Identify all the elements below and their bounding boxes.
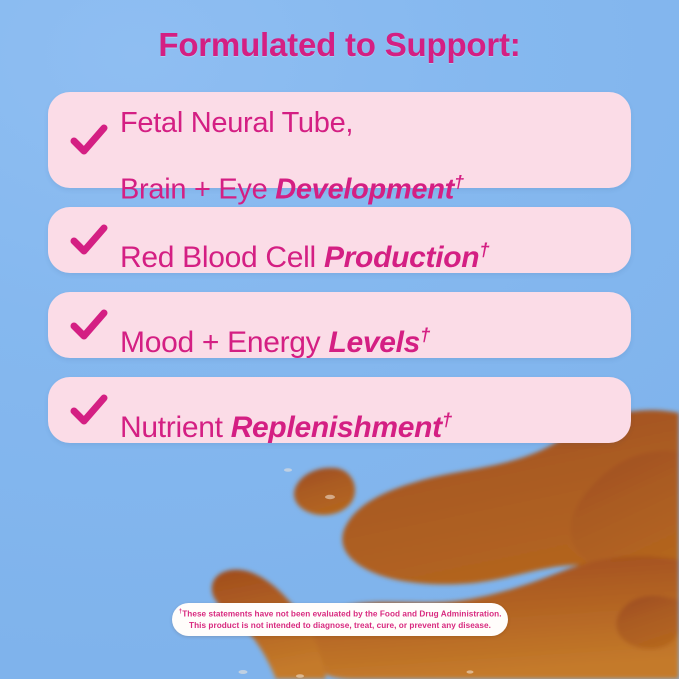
check-icon bbox=[66, 387, 112, 433]
benefit-line-plain: Mood + Energy bbox=[120, 326, 328, 359]
benefit-card-nutrient-replenishment: Nutrient Replenishment† bbox=[48, 377, 631, 443]
benefit-line-1: Fetal Neural Tube, bbox=[120, 107, 353, 139]
page-title: Formulated to Support: bbox=[0, 26, 679, 64]
disclaimer-text-1: These statements have not been evaluated… bbox=[182, 610, 501, 619]
benefit-line-plain: Red Blood Cell bbox=[120, 241, 324, 274]
disclaimer-line-1: †These statements have not been evaluate… bbox=[178, 607, 501, 620]
benefit-label: Mood + Energy Levels† bbox=[120, 291, 430, 359]
benefit-line-emphasis: Replenishment bbox=[231, 411, 442, 444]
benefit-card-mood-energy: Mood + Energy Levels† bbox=[48, 292, 631, 358]
benefit-card-red-blood-cell: Red Blood Cell Production† bbox=[48, 207, 631, 273]
check-icon bbox=[66, 217, 112, 263]
dagger-mark: † bbox=[479, 239, 489, 260]
benefit-line-plain: Nutrient bbox=[120, 411, 231, 444]
benefit-line-2-plain: Brain + Eye bbox=[120, 173, 275, 205]
benefit-line-emphasis: Production bbox=[324, 241, 479, 274]
benefit-card-fetal-development: Fetal Neural Tube, Brain + Eye Developme… bbox=[48, 92, 631, 188]
fda-disclaimer: †These statements have not been evaluate… bbox=[172, 603, 508, 636]
dagger-mark: † bbox=[442, 409, 452, 430]
benefit-line-2-emphasis: Development bbox=[275, 173, 454, 205]
benefit-card-list: Fetal Neural Tube, Brain + Eye Developme… bbox=[48, 92, 631, 462]
check-icon bbox=[66, 117, 112, 163]
dagger-mark: † bbox=[420, 324, 430, 345]
benefit-label: Red Blood Cell Production† bbox=[120, 206, 489, 274]
disclaimer-line-2: This product is not intended to diagnose… bbox=[189, 620, 491, 631]
benefit-label: Fetal Neural Tube, Brain + Eye Developme… bbox=[120, 74, 464, 206]
dagger-mark: † bbox=[454, 172, 464, 192]
product-benefits-poster: Formulated to Support: Fetal Neural Tube… bbox=[0, 0, 679, 679]
benefit-label: Nutrient Replenishment† bbox=[120, 376, 452, 444]
check-icon bbox=[66, 302, 112, 348]
benefit-line-emphasis: Levels bbox=[328, 326, 420, 359]
